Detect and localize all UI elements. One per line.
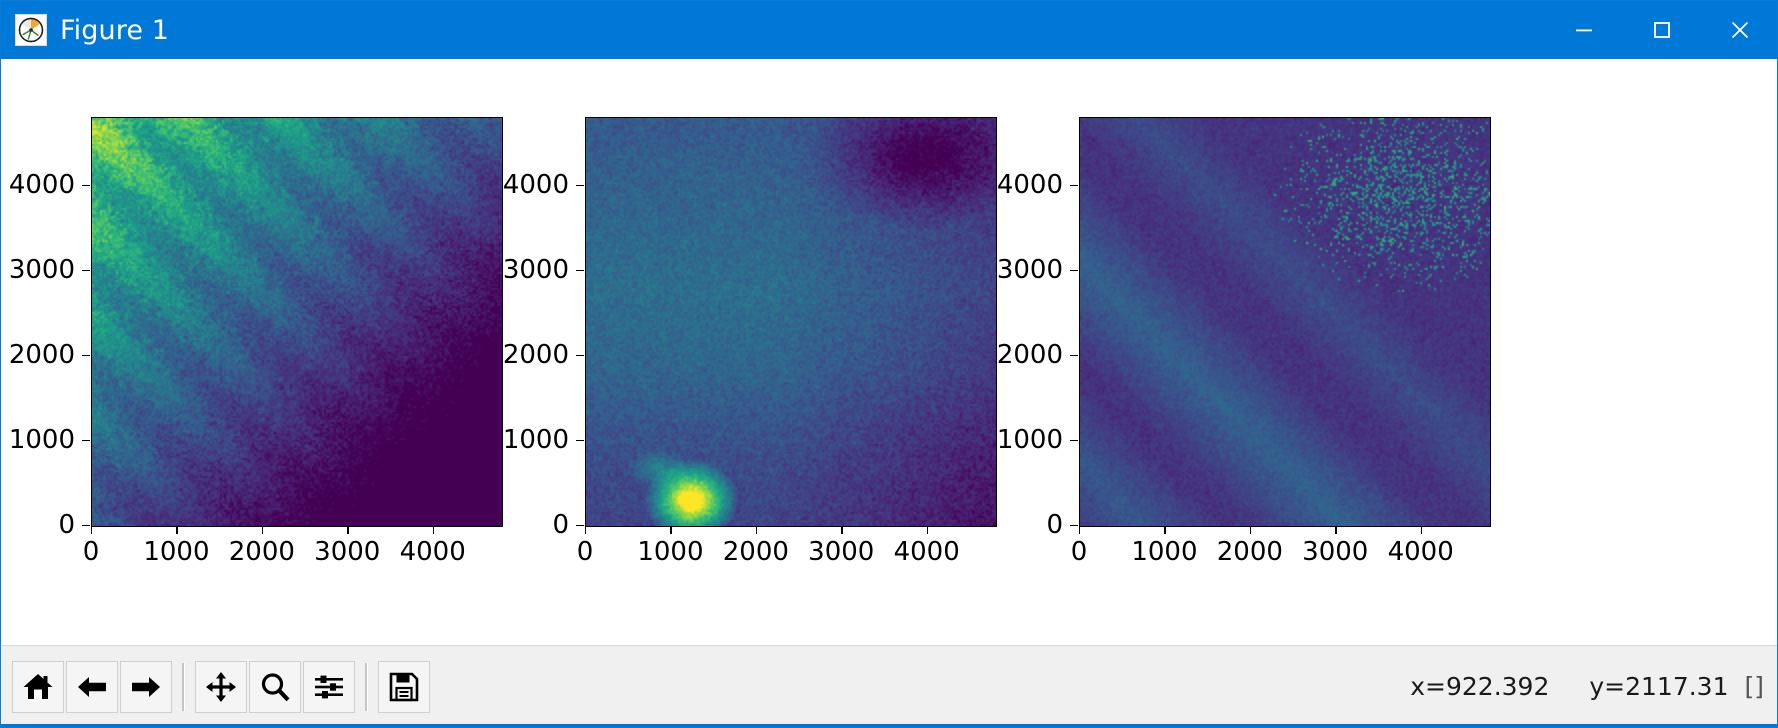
minimize-icon bbox=[1573, 19, 1595, 41]
figure-canvas[interactable]: 0100020003000400001000200030004000 01000… bbox=[2, 59, 1778, 645]
y-tick-label: 4000 bbox=[9, 172, 75, 198]
x-tick-label: 1000 bbox=[1131, 539, 1197, 565]
minimize-button[interactable] bbox=[1545, 1, 1623, 59]
sliders-icon bbox=[312, 670, 346, 704]
x-tick-mark bbox=[176, 526, 177, 534]
x-tick-mark bbox=[1335, 526, 1336, 534]
y-tick-mark bbox=[576, 185, 584, 186]
y-tick-label: 2000 bbox=[997, 342, 1063, 368]
y-tick-mark bbox=[576, 440, 584, 441]
y-tick-label: 2000 bbox=[9, 342, 75, 368]
move-arrows-icon bbox=[204, 670, 238, 704]
subplot-band-2[interactable] bbox=[585, 117, 997, 527]
subplots-button[interactable] bbox=[303, 661, 355, 713]
x-tick-mark bbox=[1421, 526, 1422, 534]
close-icon bbox=[1728, 18, 1752, 42]
y-tick-mark bbox=[576, 270, 584, 271]
raster-image-3 bbox=[1080, 118, 1490, 526]
x-tick-label: 2000 bbox=[723, 539, 789, 565]
y-tick-mark bbox=[1070, 525, 1078, 526]
arrow-left-icon bbox=[75, 670, 109, 704]
y-tick-label: 0 bbox=[552, 512, 569, 538]
maximize-button[interactable] bbox=[1623, 1, 1701, 59]
x-tick-mark bbox=[756, 526, 757, 534]
x-tick-mark bbox=[1250, 526, 1251, 534]
forward-button[interactable] bbox=[120, 661, 172, 713]
x-tick-label: 1000 bbox=[143, 539, 209, 565]
window-bottom-border bbox=[1, 724, 1778, 727]
y-tick-label: 4000 bbox=[997, 172, 1063, 198]
x-tick-label: 2000 bbox=[229, 539, 295, 565]
cursor-value-readout: [] bbox=[1744, 672, 1764, 701]
x-tick-mark bbox=[670, 526, 671, 534]
x-tick-label: 4000 bbox=[894, 539, 960, 565]
cursor-y-readout: y=2117.31 bbox=[1589, 672, 1728, 701]
y-tick-label: 0 bbox=[1046, 512, 1063, 538]
x-tick-label: 3000 bbox=[1302, 539, 1368, 565]
x-tick-label: 1000 bbox=[637, 539, 703, 565]
y-tick-label: 1000 bbox=[9, 427, 75, 453]
subplot-band-1[interactable] bbox=[91, 117, 503, 527]
x-tick-label: 0 bbox=[1071, 539, 1088, 565]
y-tick-mark bbox=[82, 355, 90, 356]
x-tick-mark bbox=[1164, 526, 1165, 534]
y-tick-mark bbox=[82, 270, 90, 271]
matplotlib-logo-icon bbox=[15, 14, 47, 46]
y-tick-label: 0 bbox=[58, 512, 75, 538]
x-tick-label: 4000 bbox=[400, 539, 466, 565]
save-button[interactable] bbox=[378, 661, 430, 713]
x-tick-mark bbox=[262, 526, 263, 534]
x-tick-label: 3000 bbox=[808, 539, 874, 565]
floppy-disk-icon bbox=[387, 670, 421, 704]
zoom-button[interactable] bbox=[249, 661, 301, 713]
raster-image-2 bbox=[586, 118, 996, 526]
magnifier-icon bbox=[258, 670, 292, 704]
y-tick-label: 4000 bbox=[503, 172, 569, 198]
y-tick-mark bbox=[576, 525, 584, 526]
arrow-right-icon bbox=[129, 670, 163, 704]
pan-button[interactable] bbox=[195, 661, 247, 713]
x-tick-label: 3000 bbox=[314, 539, 380, 565]
y-tick-mark bbox=[576, 355, 584, 356]
y-tick-mark bbox=[1070, 185, 1078, 186]
y-tick-mark bbox=[1070, 355, 1078, 356]
y-tick-label: 3000 bbox=[997, 257, 1063, 283]
toolbar-separator-1 bbox=[182, 663, 185, 711]
y-tick-mark bbox=[1070, 270, 1078, 271]
x-tick-mark bbox=[433, 526, 434, 534]
x-tick-mark bbox=[91, 526, 92, 534]
y-tick-label: 2000 bbox=[503, 342, 569, 368]
raster-image-1 bbox=[92, 118, 502, 526]
x-tick-mark bbox=[927, 526, 928, 534]
title-bar: Figure 1 bbox=[1, 1, 1778, 59]
x-tick-mark bbox=[585, 526, 586, 534]
close-button[interactable] bbox=[1701, 1, 1778, 59]
y-tick-label: 3000 bbox=[503, 257, 569, 283]
x-tick-label: 0 bbox=[577, 539, 594, 565]
home-icon bbox=[21, 670, 55, 704]
y-tick-label: 1000 bbox=[503, 427, 569, 453]
back-button[interactable] bbox=[66, 661, 118, 713]
y-tick-mark bbox=[82, 185, 90, 186]
x-tick-label: 2000 bbox=[1217, 539, 1283, 565]
y-tick-label: 3000 bbox=[9, 257, 75, 283]
toolbar-separator-2 bbox=[365, 663, 368, 711]
maximize-icon bbox=[1651, 19, 1673, 41]
home-button[interactable] bbox=[12, 661, 64, 713]
cursor-x-readout: x=922.392 bbox=[1410, 672, 1549, 701]
y-tick-label: 1000 bbox=[997, 427, 1063, 453]
x-tick-mark bbox=[1079, 526, 1080, 534]
x-tick-mark bbox=[347, 526, 348, 534]
subplot-band-3[interactable] bbox=[1079, 117, 1491, 527]
window-title: Figure 1 bbox=[60, 15, 169, 46]
figure-window: Figure 1 0100020003000400001000200030004… bbox=[0, 0, 1778, 728]
x-tick-label: 0 bbox=[83, 539, 100, 565]
navigation-toolbar: x=922.392 y=2117.31 [] bbox=[2, 645, 1778, 727]
x-tick-label: 4000 bbox=[1388, 539, 1454, 565]
y-tick-mark bbox=[82, 525, 90, 526]
y-tick-mark bbox=[82, 440, 90, 441]
y-tick-mark bbox=[1070, 440, 1078, 441]
x-tick-mark bbox=[841, 526, 842, 534]
